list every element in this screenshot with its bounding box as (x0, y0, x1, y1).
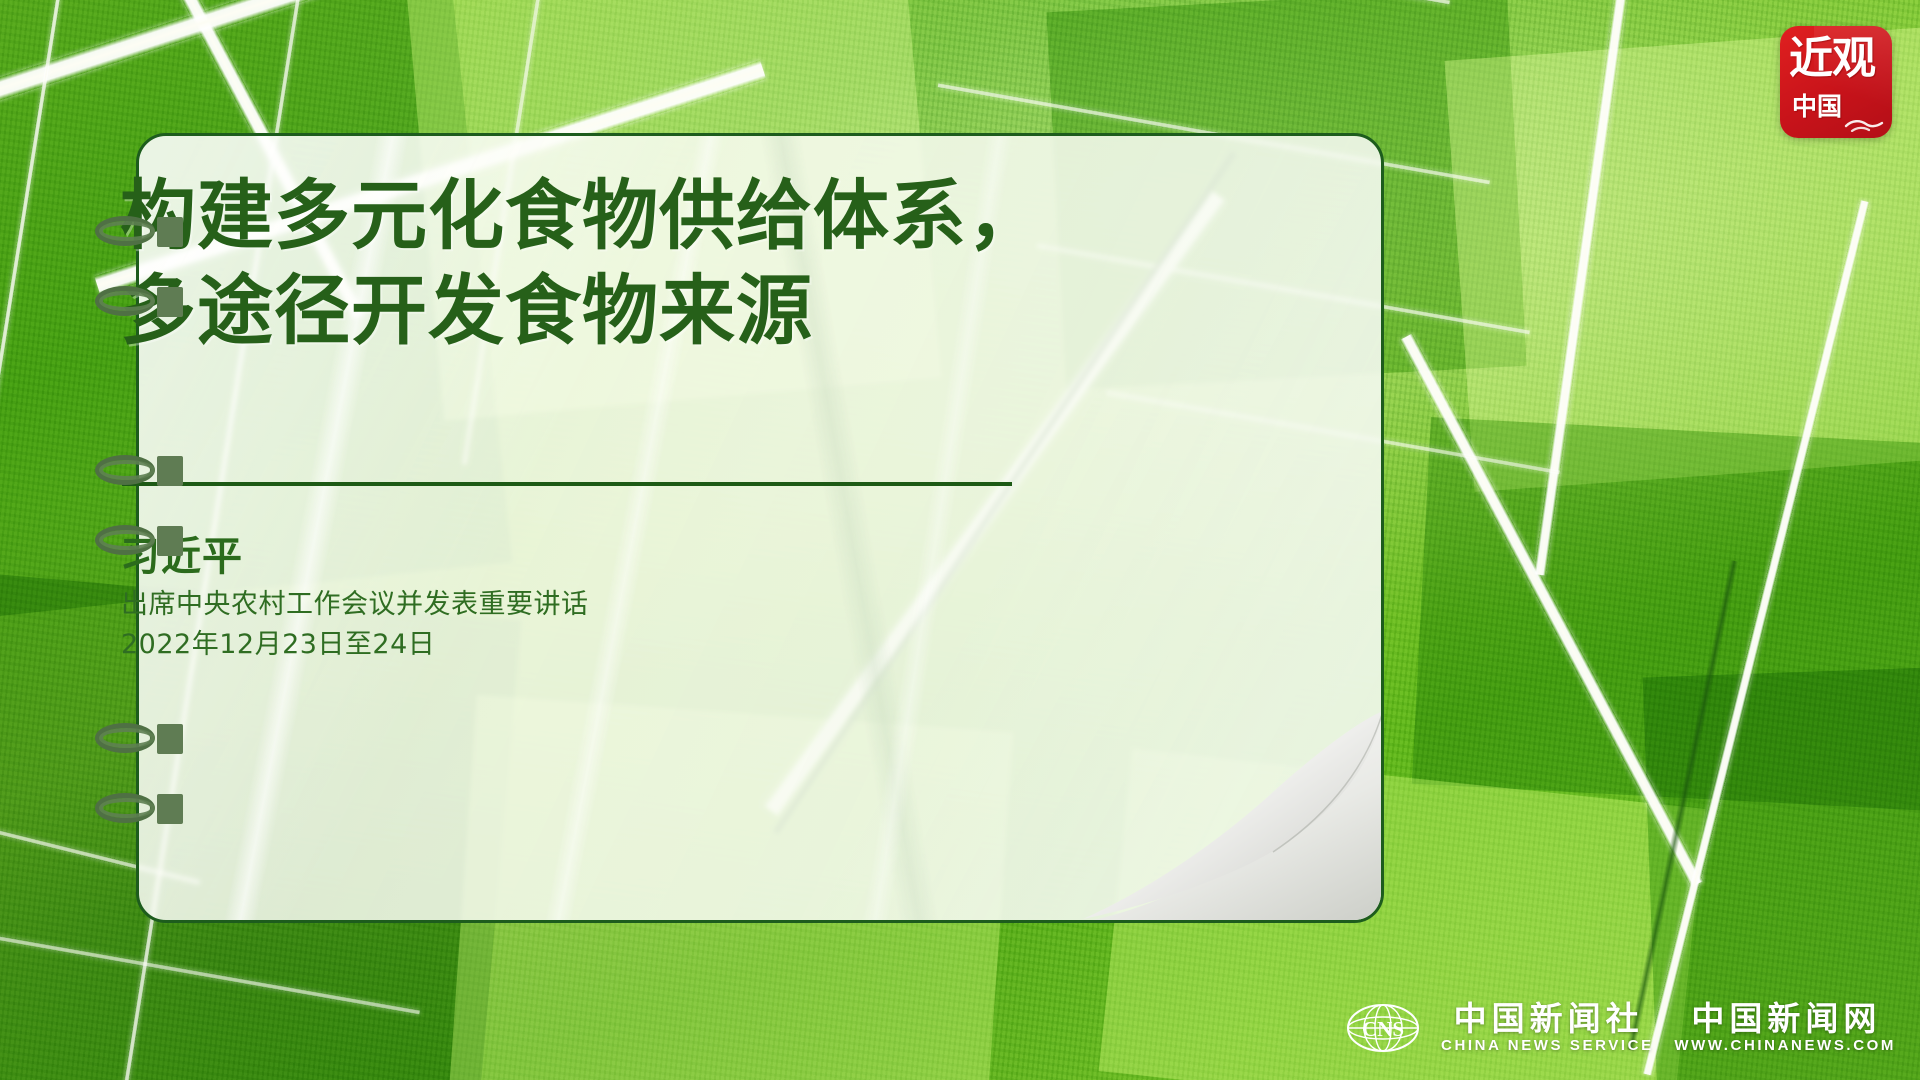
cns-logo-text: CNS (1362, 1017, 1404, 1041)
spiral-binding-ring (95, 216, 183, 246)
ring-tab (157, 287, 183, 317)
agency-name-cn: 中国新闻社 (1449, 1001, 1644, 1037)
headline-quote: 构建多元化食物供给体系， 多途径开发食物来源 (120, 168, 1130, 358)
spiral-binding-ring (95, 723, 183, 753)
ring-tab (157, 526, 183, 556)
badge-subtitle: 中国 (1792, 94, 1842, 120)
ring-wire-inner (99, 460, 155, 480)
agency-name-en: CHINA NEWS SERVICE (1438, 1037, 1653, 1055)
ring-wire-inner (99, 291, 155, 311)
site-name-cn: 中国新闻网 (1686, 1001, 1881, 1037)
cns-globe-icon: CNS (1346, 1003, 1420, 1053)
spiral-binding-ring (95, 455, 183, 485)
agency-logo: 中国新闻社 CHINA NEWS SERVICE (1438, 1001, 1653, 1055)
quote-content: 构建多元化食物供给体系， 多途径开发食物来源 习近平 出席中央农村工作会议并发表… (120, 0, 1180, 1080)
ring-wire-inner (99, 221, 155, 241)
divider-rule (122, 482, 1012, 486)
ring-tab (157, 217, 183, 247)
spiral-binding-ring (95, 525, 183, 555)
ring-tab (157, 794, 183, 824)
spiral-binding-ring (95, 286, 183, 316)
site-url-en: WWW.CHINANEWS.COM (1672, 1037, 1896, 1055)
ring-wire-inner (99, 728, 155, 748)
date-text: 2022年12月23日至24日 (121, 622, 435, 661)
spiral-binding-ring (95, 793, 183, 823)
cloud-swoosh-icon (1844, 110, 1884, 132)
badge-title: 近观 (1789, 36, 1886, 82)
site-logo[interactable]: 中国新闻网 WWW.CHINANEWS.COM (1672, 1001, 1896, 1055)
ring-wire-inner (99, 798, 155, 818)
ring-tab (157, 724, 183, 754)
jinguan-china-badge[interactable]: 近观 中国 (1780, 26, 1892, 138)
ring-wire-inner (99, 530, 155, 550)
ring-tab (157, 456, 183, 486)
publisher-logo-bar: CNS 中国新闻社 CHINA NEWS SERVICE 中国新闻网 WWW.C… (1346, 992, 1896, 1064)
occasion-text: 出席中央农村工作会议并发表重要讲话 (121, 582, 589, 621)
